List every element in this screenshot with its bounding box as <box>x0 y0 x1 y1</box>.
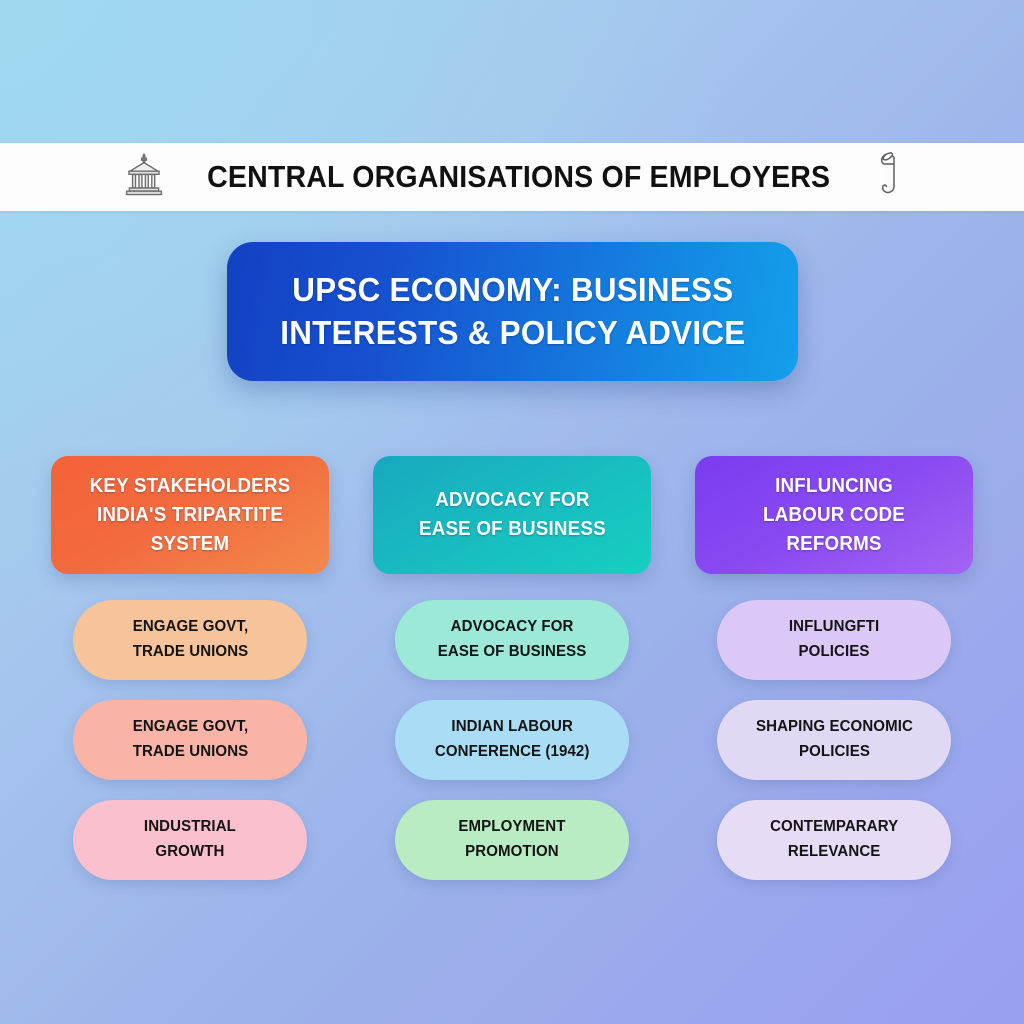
list-item-line-2: POLICIES <box>756 740 913 765</box>
list-item-line-1: EMPLOYMENT <box>458 815 565 840</box>
list-item-line-1: CONTEMPARARY <box>770 815 898 840</box>
list-item-line-1: ADVOCACY FOR <box>438 615 587 640</box>
column-header-key-stakeholders[interactable]: KEY STAKEHOLDERS INDIA'S TRIPARTITE SYST… <box>51 456 329 574</box>
banner-title: CENTRAL ORGANISATIONS OF EMPLOYERS <box>207 159 830 195</box>
list-item-line-1: INDIAN LABOUR <box>435 715 590 740</box>
column-header-text: ADVOCACY FOR EASE OF BUSINESS <box>409 486 615 544</box>
list-item[interactable]: SHAPING ECONOMIC POLICIES <box>717 700 951 780</box>
column-header-line-1: INFLUNCING <box>713 472 956 501</box>
list-item-text: INDUSTRIAL GROWTH <box>133 815 248 865</box>
column-header-line-2: LABOUR CODE REFORMS <box>713 501 956 559</box>
list-item-line-1: ENGAGE GOVT, <box>132 615 248 640</box>
infographic-canvas: CENTRAL ORGANISATIONS OF EMPLOYERS UPSC … <box>0 0 1024 1024</box>
list-item[interactable]: INDIAN LABOUR CONFERENCE (1942) <box>395 700 629 780</box>
column-header-line-2: INDIA'S TRIPARTITE SYSTEM <box>69 501 312 559</box>
column-header-text: INFLUNCING LABOUR CODE REFORMS <box>703 472 964 559</box>
list-item-line-2: EASE OF BUSINESS <box>438 640 587 665</box>
list-item[interactable]: EMPLOYMENT PROMOTION <box>395 800 629 880</box>
bank-building-icon <box>122 152 166 203</box>
column-labour-code-reforms: INFLUNCING LABOUR CODE REFORMS INFLUNGFT… <box>695 456 973 900</box>
list-item-text: CONTEMPARARY RELEVANCE <box>759 815 910 865</box>
list-item[interactable]: ADVOCACY FOR EASE OF BUSINESS <box>395 600 629 680</box>
main-title-card: UPSC ECONOMY: BUSINESS INTERESTS & POLIC… <box>227 242 798 381</box>
list-item-line-2: TRADE UNIONS <box>132 640 248 665</box>
list-item-line-2: GROWTH <box>144 840 236 865</box>
list-item-text: ENGAGE GOVT, TRADE UNIONS <box>121 715 259 765</box>
column-header-advocacy[interactable]: ADVOCACY FOR EASE OF BUSINESS <box>373 456 651 574</box>
list-item-line-1: INDUSTRIAL <box>144 815 236 840</box>
list-item[interactable]: CONTEMPARARY RELEVANCE <box>717 800 951 880</box>
list-item[interactable]: ENGAGE GOVT, TRADE UNIONS <box>73 700 307 780</box>
column-header-text: KEY STAKEHOLDERS INDIA'S TRIPARTITE SYST… <box>59 472 320 559</box>
list-item[interactable]: ENGAGE GOVT, TRADE UNIONS <box>73 600 307 680</box>
main-title-line-1: UPSC ECONOMY: BUSINESS <box>280 269 745 312</box>
list-item-text: SHAPING ECONOMIC POLICIES <box>744 715 923 765</box>
column-key-stakeholders: KEY STAKEHOLDERS INDIA'S TRIPARTITE SYST… <box>51 456 329 900</box>
column-header-influencing[interactable]: INFLUNCING LABOUR CODE REFORMS <box>695 456 973 574</box>
main-title-line-2: INTERESTS & POLICY ADVICE <box>280 312 745 355</box>
header-banner: CENTRAL ORGANISATIONS OF EMPLOYERS <box>0 143 1024 211</box>
list-item-line-2: CONFERENCE (1942) <box>435 740 590 765</box>
list-item-text: ENGAGE GOVT, TRADE UNIONS <box>121 615 259 665</box>
columns-container: KEY STAKEHOLDERS INDIA'S TRIPARTITE SYST… <box>0 456 1024 900</box>
column-header-line-1: ADVOCACY FOR <box>419 486 606 515</box>
list-item-line-2: RELEVANCE <box>770 840 898 865</box>
list-item-line-2: TRADE UNIONS <box>132 740 248 765</box>
scroll-document-icon <box>872 150 902 205</box>
column-header-line-1: KEY STAKEHOLDERS <box>69 472 312 501</box>
list-item-line-2: POLICIES <box>789 640 879 665</box>
list-item-text: EMPLOYMENT PROMOTION <box>447 815 577 865</box>
list-item[interactable]: INDUSTRIAL GROWTH <box>73 800 307 880</box>
list-item-text: INDIAN LABOUR CONFERENCE (1942) <box>423 715 600 765</box>
list-item-text: ADVOCACY FOR EASE OF BUSINESS <box>426 615 597 665</box>
list-item-line-1: ENGAGE GOVT, <box>132 715 248 740</box>
list-item-text: INFLUNGFTI POLICIES <box>778 615 891 665</box>
main-title-text: UPSC ECONOMY: BUSINESS INTERESTS & POLIC… <box>255 269 770 355</box>
list-item-line-1: INFLUNGFTI <box>789 615 879 640</box>
column-advocacy-ease-of-business: ADVOCACY FOR EASE OF BUSINESS ADVOCACY F… <box>373 456 651 900</box>
list-item-line-1: SHAPING ECONOMIC <box>756 715 913 740</box>
list-item[interactable]: INFLUNGFTI POLICIES <box>717 600 951 680</box>
list-item-line-2: PROMOTION <box>458 840 565 865</box>
column-header-line-2: EASE OF BUSINESS <box>419 515 606 544</box>
